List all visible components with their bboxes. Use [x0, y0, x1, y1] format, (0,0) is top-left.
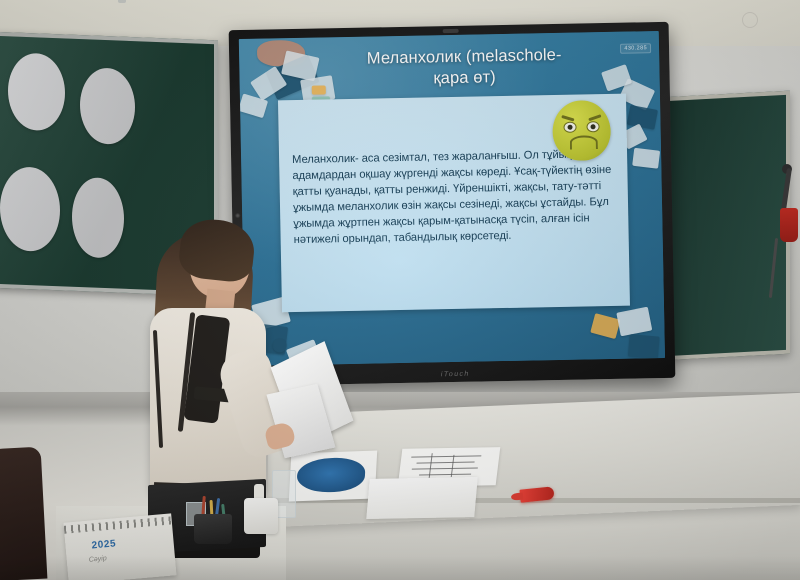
- board-oval-paper: [8, 52, 65, 131]
- deco-illustration: [590, 313, 620, 339]
- blue-print-graphic: [296, 457, 366, 493]
- board-oval-paper: [0, 166, 60, 252]
- interactive-flat-panel[interactable]: 430.285 Меланхолик (melaschole- қара өт): [229, 22, 676, 386]
- eye-left-icon: [563, 122, 576, 133]
- sad-face-emoji: [552, 100, 611, 161]
- deco-illustration: [627, 105, 658, 130]
- classroom-photo: 430.285 Меланхолик (melaschole- қара өт): [0, 0, 800, 580]
- panel-bezel: 430.285 Меланхолик (melaschole- қара өт): [229, 22, 676, 386]
- board-oval-paper: [72, 177, 124, 259]
- eyebrow-left-icon: [561, 115, 574, 122]
- slide-body-text: Меланхолик- аса сезімтал, тез жараланғыш…: [292, 147, 616, 249]
- deco-illustration: [616, 307, 652, 337]
- wall-mark: [742, 12, 758, 28]
- ir-sensor: [443, 29, 459, 33]
- eye-right-icon: [586, 121, 599, 132]
- deco-illustration: [632, 148, 660, 169]
- fire-safety-device: [780, 208, 798, 242]
- slide-corner-badge: 430.285: [620, 43, 651, 54]
- floor-shadow: [0, 556, 800, 580]
- slide-title: Меланхолик (melaschole- қара өт): [299, 44, 630, 92]
- board-oval-paper: [80, 67, 135, 145]
- panel-screen[interactable]: 430.285 Меланхолик (melaschole- қара өт): [239, 31, 665, 366]
- blank-white-sheet: [366, 477, 477, 519]
- board-clip: [118, 0, 126, 3]
- blue-printed-sheet: [289, 450, 377, 501]
- frown-mouth-icon: [570, 135, 598, 150]
- pen-holder: [194, 514, 232, 544]
- presentation-slide: 430.285 Меланхолик (melaschole- қара өт): [239, 31, 665, 366]
- slide-text-panel: Меланхолик- аса сезімтал, тез жараланғыш…: [278, 94, 630, 313]
- green-chalkboard-right: [662, 91, 790, 361]
- deco-illustration: [628, 334, 660, 358]
- eyebrow-right-icon: [588, 114, 601, 121]
- power-led-icon: [235, 213, 240, 218]
- calendar-year: 2025: [91, 538, 117, 551]
- sanitizer-dispenser: [244, 498, 278, 534]
